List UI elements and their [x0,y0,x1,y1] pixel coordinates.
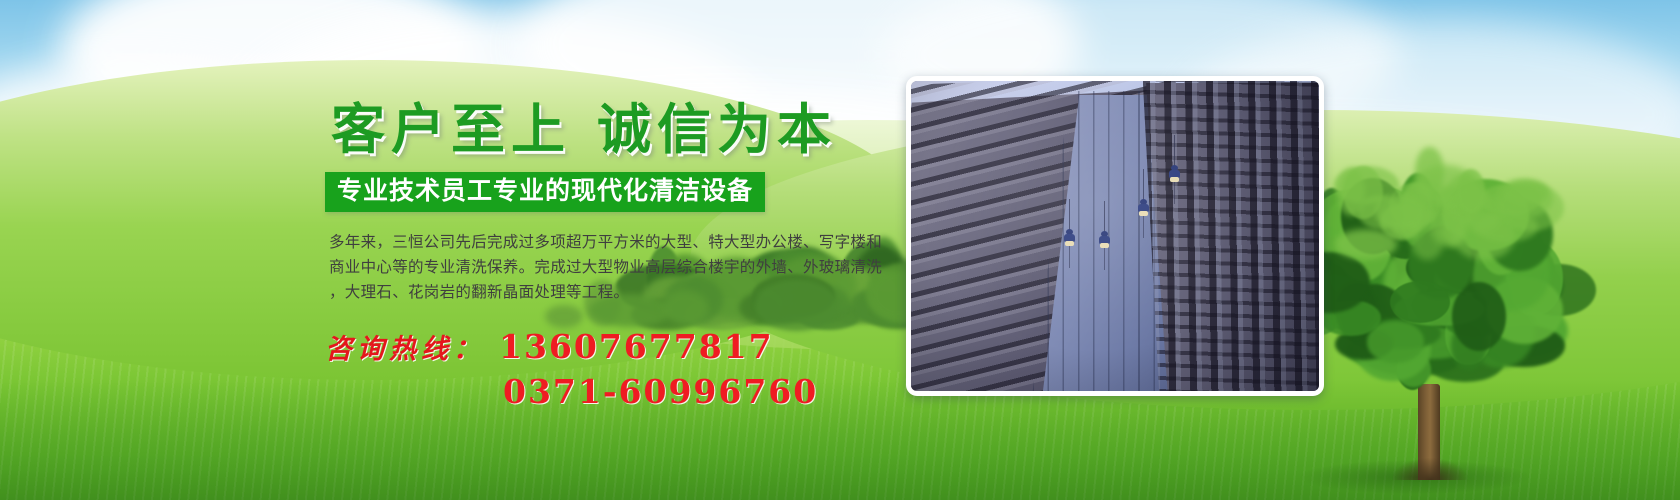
hotline-secondary-number[interactable]: 0371-60996760 [503,372,895,411]
hotline-primary-number[interactable]: 13607677817 [499,327,774,366]
foliage-blob [1498,184,1564,231]
hotline-block: 咨询热线：13607677817 0371-60996760 [325,327,895,411]
description-line: 商业中心等的专业清洗保养。完成过大型物业高层综合楼宇的外墙、外玻璃清洗 [329,255,889,280]
subtitle-text: 专业技术员工专业的现代化清洁设备 [337,177,753,205]
page-title: 客户至上诚信为本 [331,98,895,160]
photo-vignette [911,81,1319,391]
foliage-blob [1375,194,1426,229]
banner-content: 客户至上诚信为本 专业技术员工专业的现代化清洁设备 多年来，三恒公司先后完成过多… [325,98,895,411]
headline-part-2: 诚信为本 [597,97,837,161]
tree-trunk [1418,384,1440,480]
description-line: ，大理石、花岗岩的翻新晶面处理等工程。 [329,280,889,305]
description-text: 多年来，三恒公司先后完成过多项超万平方米的大型、特大型办公楼、写字楼和 商业中心… [329,230,889,305]
building-photo [906,76,1324,396]
headline-part-1: 客户至上 [331,97,571,161]
foliage-blob [1457,169,1485,213]
description-line: 多年来，三恒公司先后完成过多项超万平方米的大型、特大型办公楼、写字楼和 [329,230,889,255]
foreground-tree [1300,160,1570,480]
hotline-label: 咨询热线： [325,327,485,366]
hero-banner: 客户至上诚信为本 专业技术员工专业的现代化清洁设备 多年来，三恒公司先后完成过多… [0,0,1680,500]
subtitle-bar: 专业技术员工专业的现代化清洁设备 [325,172,765,212]
